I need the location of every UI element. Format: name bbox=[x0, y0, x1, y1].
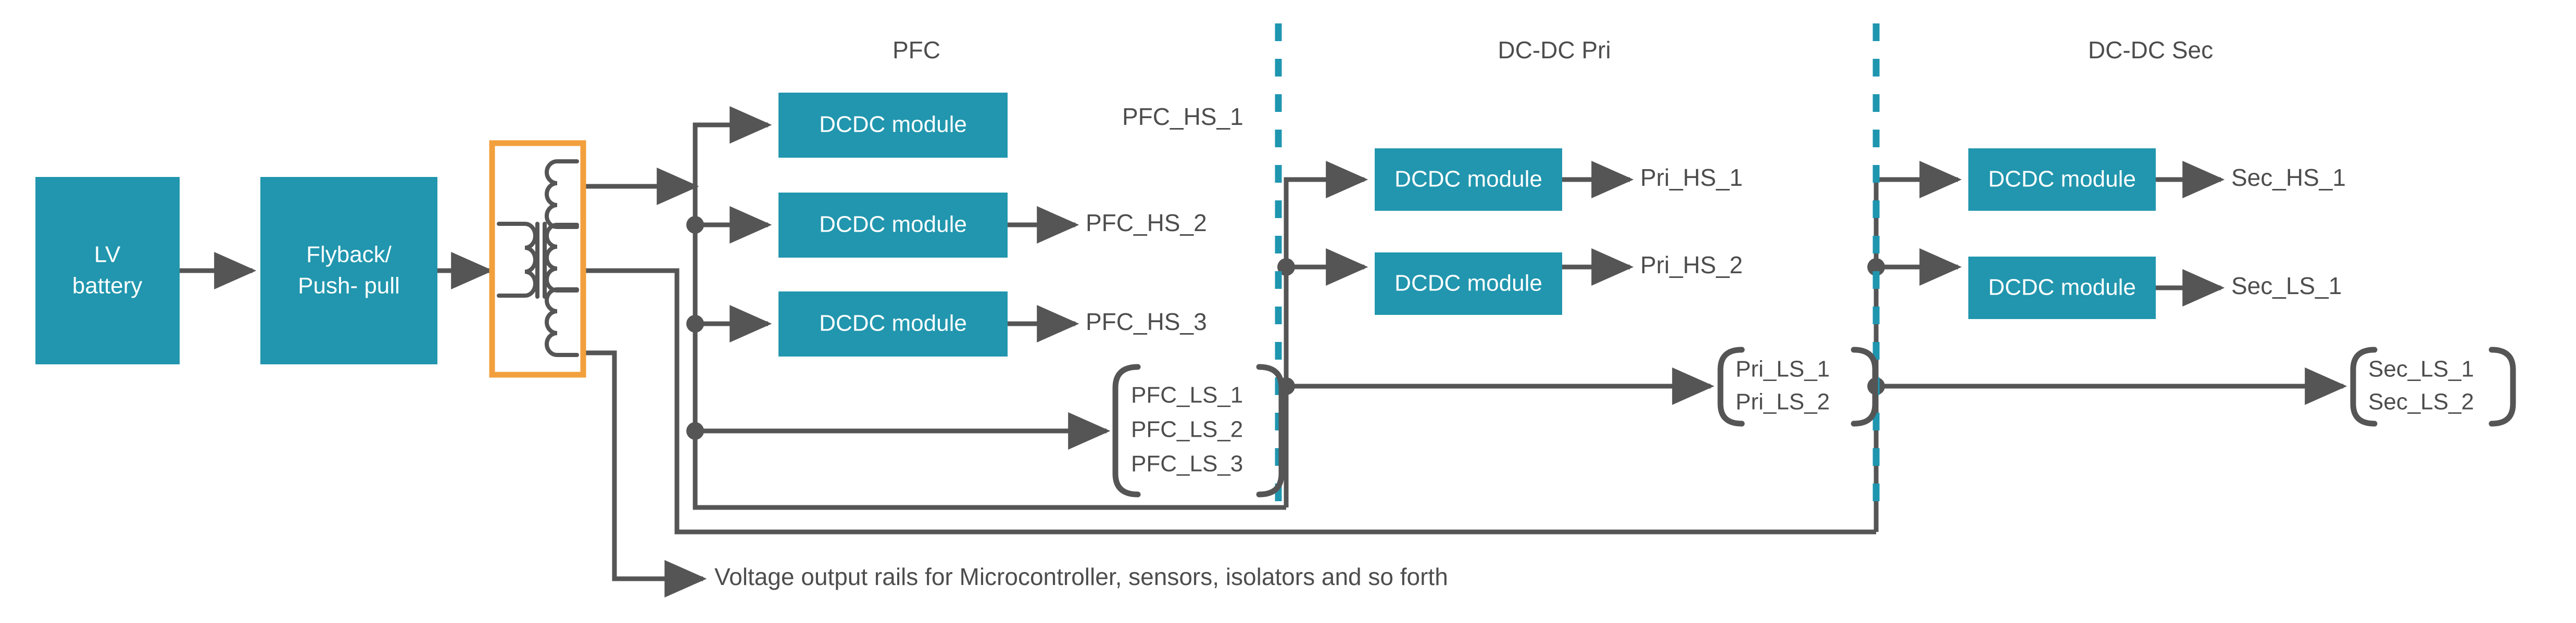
rail-label-pri-hs-1: Pri_HS_1 bbox=[1640, 164, 1743, 191]
lv-battery-rect[interactable] bbox=[35, 177, 180, 364]
converter-rect[interactable] bbox=[260, 177, 437, 364]
junction-dot bbox=[686, 315, 704, 333]
sec-module-2-label: DCDC module bbox=[1988, 275, 2136, 300]
pri-ls-line-1: Pri_LS_1 bbox=[1736, 357, 1830, 382]
lv-battery-label-line2: battery bbox=[72, 273, 143, 299]
section-title-dcdc-pri: DC-DC Pri bbox=[1498, 36, 1611, 63]
pri-ls-line-2: Pri_LS_2 bbox=[1736, 389, 1830, 415]
sec-bus-trunk bbox=[1876, 180, 1958, 532]
pfc-ls-line-1: PFC_LS_1 bbox=[1131, 383, 1243, 408]
pri-module-2-label: DCDC module bbox=[1394, 271, 1542, 296]
transformer-symbol[interactable] bbox=[492, 143, 583, 375]
pfc-ls-line-2: PFC_LS_2 bbox=[1131, 417, 1243, 442]
block-diagram-canvas: LV battery Flyback/ Push- pull PFC DCDC … bbox=[0, 0, 2576, 623]
junction-dot bbox=[686, 216, 704, 234]
pri-ls-group: Pri_LS_1 Pri_LS_2 bbox=[1720, 350, 1875, 424]
pri-module-1[interactable]: DCDC module bbox=[1375, 148, 1562, 211]
block-flyback-pushpull[interactable]: Flyback/ Push- pull bbox=[260, 177, 437, 364]
section-title-pfc: PFC bbox=[893, 36, 940, 63]
converter-label-line2: Push- pull bbox=[298, 273, 400, 299]
pfc-module-3-label: DCDC module bbox=[819, 311, 967, 336]
pri-module-2[interactable]: DCDC module bbox=[1375, 252, 1562, 315]
pfc-module-1[interactable]: DCDC module bbox=[778, 93, 1008, 158]
pfc-ls-line-3: PFC_LS_3 bbox=[1131, 451, 1243, 477]
sec-module-2[interactable]: DCDC module bbox=[1968, 257, 2156, 319]
pfc-ls-group: PFC_LS_1 PFC_LS_2 PFC_LS_3 bbox=[1115, 367, 1281, 494]
caption-voltage-rails: Voltage output rails for Microcontroller… bbox=[714, 563, 1448, 590]
converter-label-line1: Flyback/ bbox=[306, 242, 392, 268]
wire-sec3-to-caption bbox=[583, 353, 703, 579]
pfc-module-2-label: DCDC module bbox=[819, 212, 967, 237]
sec-ls-line-2: Sec_LS_2 bbox=[2368, 389, 2474, 415]
sec-ls-line-1: Sec_LS_1 bbox=[2368, 357, 2474, 382]
pfc-branch-1 bbox=[695, 125, 768, 186]
section-title-dcdc-sec: DC-DC Sec bbox=[2088, 36, 2213, 63]
pri-module-1-label: DCDC module bbox=[1394, 167, 1542, 192]
rail-label-pri-hs-2: Pri_HS_2 bbox=[1640, 251, 1743, 278]
pfc-module-2[interactable]: DCDC module bbox=[778, 193, 1008, 258]
rail-label-pfc-hs-2: PFC_HS_2 bbox=[1086, 209, 1207, 236]
sec-ls-group: Sec_LS_1 Sec_LS_2 bbox=[2353, 350, 2513, 424]
lv-battery-label-line1: LV bbox=[94, 242, 121, 268]
block-lv-battery[interactable]: LV battery bbox=[35, 177, 180, 364]
brace-right-icon bbox=[2492, 350, 2513, 424]
pfc-module-3[interactable]: DCDC module bbox=[778, 291, 1008, 357]
sec-module-1-label: DCDC module bbox=[1988, 167, 2136, 192]
rail-label-sec-ls-1: Sec_LS_1 bbox=[2231, 272, 2342, 299]
rail-label-pfc-hs-3: PFC_HS_3 bbox=[1086, 308, 1207, 335]
junction-dot bbox=[686, 422, 704, 440]
diagram-svg: LV battery Flyback/ Push- pull PFC DCDC … bbox=[0, 0, 2576, 623]
rail-label-sec-hs-1: Sec_HS_1 bbox=[2231, 164, 2346, 191]
sec-module-1[interactable]: DCDC module bbox=[1968, 148, 2156, 211]
rail-label-pfc-hs-1: PFC_HS_1 bbox=[1122, 103, 1243, 130]
pri-bus-trunk bbox=[1286, 180, 1364, 507]
pfc-module-1-label: DCDC module bbox=[819, 112, 967, 137]
